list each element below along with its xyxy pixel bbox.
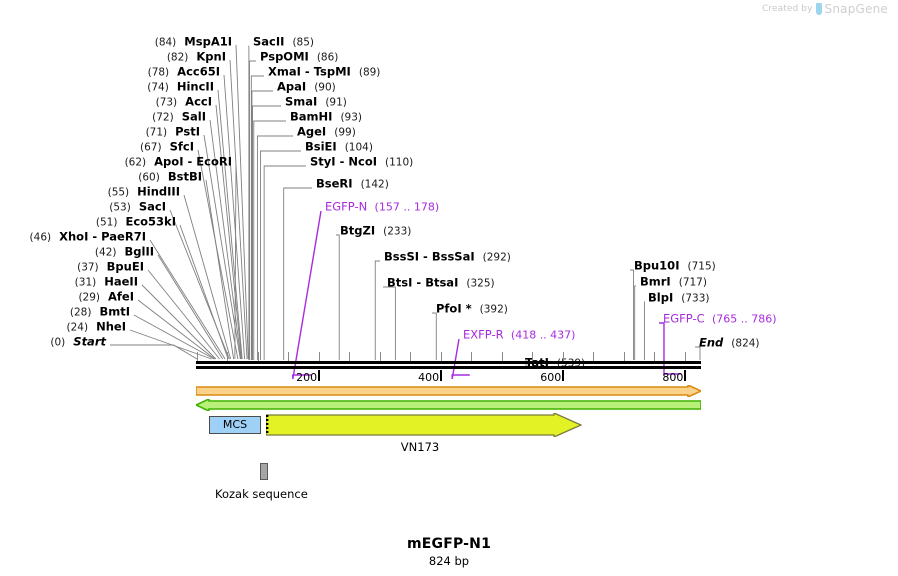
enzyme-label-sacii[interactable]: SacII (85): [253, 36, 314, 49]
label-position: (91): [325, 97, 347, 109]
label-name: Eco53kI: [125, 215, 176, 229]
enzyme-label-bstbi[interactable]: (60) BstBI: [138, 171, 202, 184]
enzyme-label-sfci[interactable]: (67) SfcI: [140, 141, 194, 154]
ruler-minor-tick: [319, 352, 320, 361]
label-position: (53): [109, 202, 131, 214]
antisense-strand-arrow: [196, 399, 701, 411]
ruler-minor-tick: [532, 352, 533, 361]
label-name: SacI: [139, 200, 166, 214]
label-name: HaeII: [104, 275, 138, 289]
label-name: MspA1I: [184, 35, 232, 49]
enzyme-label-eco53ki[interactable]: (51) Eco53kI: [96, 216, 176, 229]
label-position: (73): [156, 97, 178, 109]
label-name-alt: NcoI: [348, 155, 377, 169]
ruler-minor-tick: [471, 352, 472, 361]
ruler-tick-label: 200: [296, 371, 317, 384]
label-position: (82): [167, 52, 189, 64]
label-name: End: [699, 336, 723, 350]
ruler-major-tick: [562, 370, 564, 381]
label-name: PspOMI: [260, 50, 309, 64]
label-position: (392): [480, 304, 508, 316]
label-name: EGFP-N: [325, 200, 367, 214]
enzyme-label-acc65i[interactable]: (78) Acc65I: [148, 66, 220, 79]
feature-vn173-arrow[interactable]: [266, 413, 582, 441]
label-position: (85): [292, 37, 314, 49]
label-name: SacII: [253, 35, 284, 49]
enzyme-label-apoi[interactable]: (62) ApoI - EcoRI: [125, 156, 232, 169]
label-name-alt: TspMI: [314, 65, 351, 79]
label-position: (93): [340, 112, 362, 124]
label-position: (157 .. 178): [375, 201, 440, 214]
map-title: mEGFP-N1: [0, 536, 898, 552]
enzyme-label-agei[interactable]: AgeI (99): [297, 126, 356, 139]
label-position: (42): [95, 247, 117, 259]
label-name: XhoI: [59, 230, 88, 244]
label-position: (51): [96, 217, 118, 229]
map-subtitle: 824 bp: [0, 554, 898, 568]
label-position: (24): [67, 322, 89, 334]
label-name: KpnI: [196, 50, 226, 64]
label-name: XmaI: [268, 65, 301, 79]
label-position: (99): [334, 127, 356, 139]
label-position: (233): [383, 226, 411, 238]
label-name: AccI: [185, 95, 212, 109]
label-name: ApoI: [154, 155, 183, 169]
ruler-major-tick: [684, 370, 686, 381]
label-name: HindIII: [137, 185, 180, 199]
ruler-minor-tick: [685, 352, 686, 361]
label-position: (78): [148, 67, 170, 79]
label-name: Bpu10I: [634, 259, 679, 273]
ruler-tick-label: 400: [418, 371, 439, 384]
watermark-prefix: Created by: [762, 4, 813, 14]
ruler-minor-tick: [380, 352, 381, 361]
label-name: BlpI: [648, 291, 673, 305]
snapgene-watermark: Created by SnapGene: [762, 2, 888, 16]
label-position: (86): [317, 52, 339, 64]
label-name: EGFP-C: [663, 312, 705, 326]
sense-strand-arrow: [196, 385, 701, 397]
enzyme-label-xhoi[interactable]: (46) XhoI - PaeR7I: [30, 231, 146, 244]
label-name: BstBI: [168, 170, 202, 184]
label-position: (31): [75, 277, 97, 289]
label-position: (733): [681, 293, 709, 305]
label-name: NheI: [96, 320, 126, 334]
label-position: (110): [385, 157, 413, 169]
ruler-minor-tick: [197, 352, 198, 361]
label-name-alt: BtsaI: [425, 276, 458, 290]
enzyme-label-hindiii[interactable]: (55) HindIII: [108, 186, 180, 199]
enzyme-label-hincii[interactable]: (74) HincII: [147, 81, 214, 94]
label-position: (89): [359, 67, 381, 79]
ruler-minor-tick: [502, 352, 503, 361]
plasmid-map-canvas: Created by SnapGene (84) MspA1I(82) KpnI…: [0, 0, 898, 576]
enzyme-label-kpni[interactable]: (82) KpnI: [167, 51, 226, 64]
label-name: SfcI: [170, 140, 194, 154]
ruler-minor-tick: [227, 352, 228, 361]
enzyme-label-sali[interactable]: (72) SalI: [152, 111, 206, 124]
label-position: (62): [125, 157, 147, 169]
label-name: BseRI: [316, 177, 353, 191]
enzyme-label-end[interactable]: End (824): [699, 337, 760, 350]
ruler-minor-tick: [441, 352, 442, 361]
enzyme-label-bamhi[interactable]: BamHI (93): [290, 111, 362, 124]
label-name: BssSI: [384, 250, 419, 264]
watermark-brand: SnapGene: [825, 2, 888, 16]
ruler-minor-tick: [593, 352, 594, 361]
enzyme-label-pspomi[interactable]: PspOMI (86): [260, 51, 338, 64]
sequence-backbone: [196, 361, 701, 369]
enzyme-label-psti[interactable]: (71) PstI: [146, 126, 200, 139]
enzyme-label-apai[interactable]: ApaI (90): [277, 81, 336, 94]
label-position: (72): [152, 112, 174, 124]
enzyme-label-nhei[interactable]: (24) NheI: [67, 321, 126, 334]
label-name: HincII: [177, 80, 214, 94]
label-position: (717): [679, 277, 707, 289]
label-position: (60): [138, 172, 160, 184]
label-name-alt: BssSaI: [432, 250, 475, 264]
enzyme-label-btgzi[interactable]: BtgZI (233): [340, 225, 411, 238]
label-position: (28): [70, 307, 92, 319]
label-position: (84): [155, 37, 177, 49]
enzyme-label-bpu10i[interactable]: Bpu10I (715): [634, 260, 716, 273]
ruler-minor-tick: [349, 352, 350, 361]
label-name: Acc65I: [177, 65, 220, 79]
label-position: (71): [146, 127, 168, 139]
feature-mcs-label: MCS: [223, 418, 247, 431]
label-name-alt: EcoRI: [196, 155, 232, 169]
label-name: BsiEI: [305, 140, 337, 154]
enzyme-label-bseri[interactable]: BseRI (142): [316, 178, 389, 191]
label-name: BpuEI: [107, 260, 144, 274]
label-name-alt: PaeR7I: [101, 230, 146, 244]
enzyme-label-xmai[interactable]: XmaI - TspMI (89): [268, 66, 380, 79]
enzyme-label-bpuei[interactable]: (37) BpuEI: [77, 261, 144, 274]
feature-vn173-label: VN173: [401, 440, 439, 454]
enzyme-label-blpi[interactable]: BlpI (733): [648, 292, 709, 305]
label-name: BmrI: [640, 275, 671, 289]
label-name: BtsI: [387, 276, 412, 290]
enzyme-label-exfp-r[interactable]: EXFP-R (418 .. 437): [463, 329, 575, 342]
label-position: (104): [345, 142, 373, 154]
enzyme-label-bsiei[interactable]: BsiEI (104): [305, 141, 373, 154]
label-position: (292): [483, 252, 511, 264]
enzyme-label-bglii[interactable]: (42) BglII: [95, 246, 154, 259]
enzyme-label-bsssi[interactable]: BssSI - BssSaI (292): [384, 251, 511, 264]
ruler-major-tick: [318, 370, 320, 381]
label-position: (29): [78, 292, 100, 304]
label-name: PfoI *: [436, 302, 472, 316]
enzyme-label-acci[interactable]: (73) AccI: [156, 96, 212, 109]
label-name: SmaI: [285, 95, 317, 109]
enzyme-label-egfp-c[interactable]: EGFP-C (765 .. 786): [663, 313, 777, 326]
label-name: Start: [73, 335, 106, 349]
ruler-minor-tick: [654, 352, 655, 361]
ruler-tick-label: 600: [540, 371, 561, 384]
feature-mcs[interactable]: MCS: [209, 416, 261, 434]
label-position: (37): [77, 262, 99, 274]
enzyme-label-bmri[interactable]: BmrI (717): [640, 276, 707, 289]
label-position: (765 .. 786): [712, 313, 777, 326]
label-name: BtgZI: [340, 224, 375, 238]
label-position: (0): [50, 337, 65, 349]
enzyme-label-egfp-n[interactable]: EGFP-N (157 .. 178): [325, 201, 439, 214]
label-name: BmtI: [99, 305, 130, 319]
label-position: (90): [314, 82, 336, 94]
ruler-major-tick: [440, 370, 442, 381]
label-position: (824): [731, 338, 759, 350]
ruler-tick-label: 800: [662, 371, 683, 384]
label-name: SalI: [182, 110, 206, 124]
ruler-minor-tick: [563, 352, 564, 361]
label-position: (715): [687, 261, 715, 273]
enzyme-label-pfoi-[interactable]: PfoI * (392): [436, 303, 508, 316]
label-name: BglII: [125, 245, 155, 259]
label-position: (418 .. 437): [511, 329, 576, 342]
feature-kozak-label: Kozak sequence: [215, 487, 308, 501]
label-name: StyI: [310, 155, 336, 169]
label-name: AgeI: [297, 125, 326, 139]
label-name: PstI: [175, 125, 200, 139]
enzyme-label-bmti[interactable]: (28) BmtI: [70, 306, 130, 319]
enzyme-label-saci[interactable]: (53) SacI: [109, 201, 166, 214]
enzyme-label-styi[interactable]: StyI - NcoI (110): [310, 156, 413, 169]
enzyme-label-start[interactable]: (0) Start: [50, 336, 106, 349]
ruler-minor-tick: [288, 352, 289, 361]
enzyme-label-smai[interactable]: SmaI (91): [285, 96, 347, 109]
enzyme-label-mspa1i[interactable]: (84) MspA1I: [155, 36, 232, 49]
label-position: (142): [361, 179, 389, 191]
label-name: ApaI: [277, 80, 306, 94]
ruler-minor-tick: [258, 352, 259, 361]
ruler-minor-tick: [410, 352, 411, 361]
enzyme-label-btsi[interactable]: BtsI - BtsaI (325): [387, 277, 495, 290]
label-position: (55): [108, 187, 130, 199]
label-position: (74): [147, 82, 169, 94]
label-position: (46): [30, 232, 52, 244]
snapgene-logo-icon: [816, 3, 822, 15]
label-name: EXFP-R: [463, 328, 504, 342]
feature-kozak-marker[interactable]: [260, 463, 268, 480]
label-name: BamHI: [290, 110, 332, 124]
ruler-minor-tick: [624, 352, 625, 361]
enzyme-label-haeii[interactable]: (31) HaeII: [75, 276, 138, 289]
enzyme-label-afei[interactable]: (29) AfeI: [78, 291, 134, 304]
feature-vn173-label-wrap: VN173: [0, 440, 898, 454]
label-position: (325): [466, 278, 494, 290]
label-position: (67): [140, 142, 162, 154]
label-name: AfeI: [108, 290, 134, 304]
